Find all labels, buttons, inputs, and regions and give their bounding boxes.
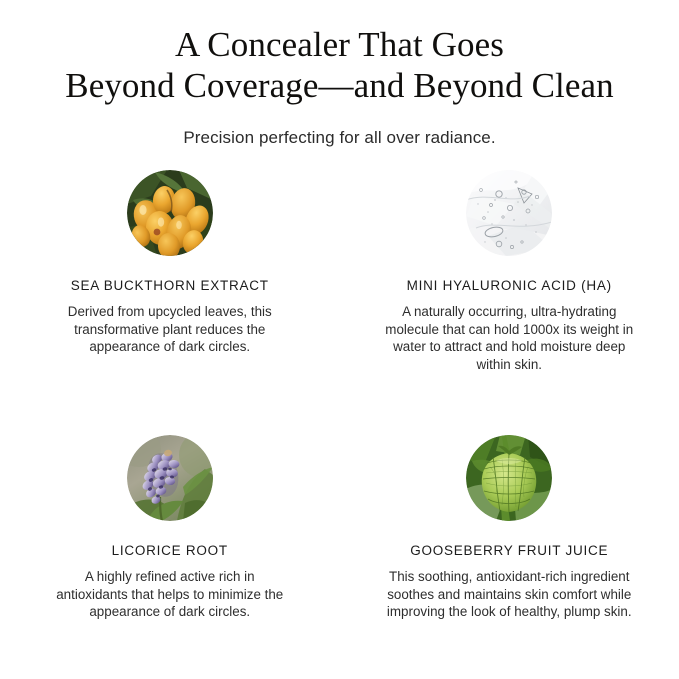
- ingredient-description: This soothing, antioxidant-rich ingredie…: [380, 568, 638, 621]
- ingredient-title: LICORICE ROOT: [112, 543, 228, 559]
- ingredient-description: Derived from upcycled leaves, this trans…: [54, 303, 286, 356]
- page-title-line-2: Beyond Coverage—and Beyond Clean: [20, 65, 660, 106]
- ingredient-card-hyaluronic-acid: MINI HYALURONIC ACID (HA) A naturally oc…: [340, 170, 679, 373]
- gooseberry-fruit-photo: [466, 435, 552, 521]
- ingredient-card-licorice-root: LICORICE ROOT A highly refined active ri…: [0, 435, 340, 621]
- licorice-root-flower-photo: [127, 435, 213, 521]
- hyaluronic-acid-gel-texture-photo: [466, 170, 552, 256]
- ingredient-title: GOOSEBERRY FRUIT JUICE: [410, 543, 608, 559]
- page-subtitle: Precision perfecting for all over radian…: [0, 127, 679, 149]
- sea-buckthorn-berries-photo: [127, 170, 213, 256]
- ingredient-card-gooseberry: GOOSEBERRY FRUIT JUICE This soothing, an…: [340, 435, 679, 621]
- page-header: A Concealer That Goes Beyond Coverage—an…: [0, 0, 679, 149]
- ingredient-title: MINI HYALURONIC ACID (HA): [407, 278, 612, 294]
- ingredient-title: SEA BUCKTHORN EXTRACT: [71, 278, 269, 294]
- ingredient-description: A naturally occurring, ultra-hydrating m…: [380, 303, 638, 373]
- page-title: A Concealer That Goes Beyond Coverage—an…: [20, 24, 660, 106]
- ingredient-benefits-page: A Concealer That Goes Beyond Coverage—an…: [0, 0, 679, 679]
- ingredient-grid: SEA BUCKTHORN EXTRACT Derived from upcyc…: [0, 170, 679, 621]
- ingredient-card-sea-buckthorn: SEA BUCKTHORN EXTRACT Derived from upcyc…: [0, 170, 340, 373]
- page-title-line-1: A Concealer That Goes: [20, 24, 660, 65]
- ingredient-description: A highly refined active rich in antioxid…: [54, 568, 286, 621]
